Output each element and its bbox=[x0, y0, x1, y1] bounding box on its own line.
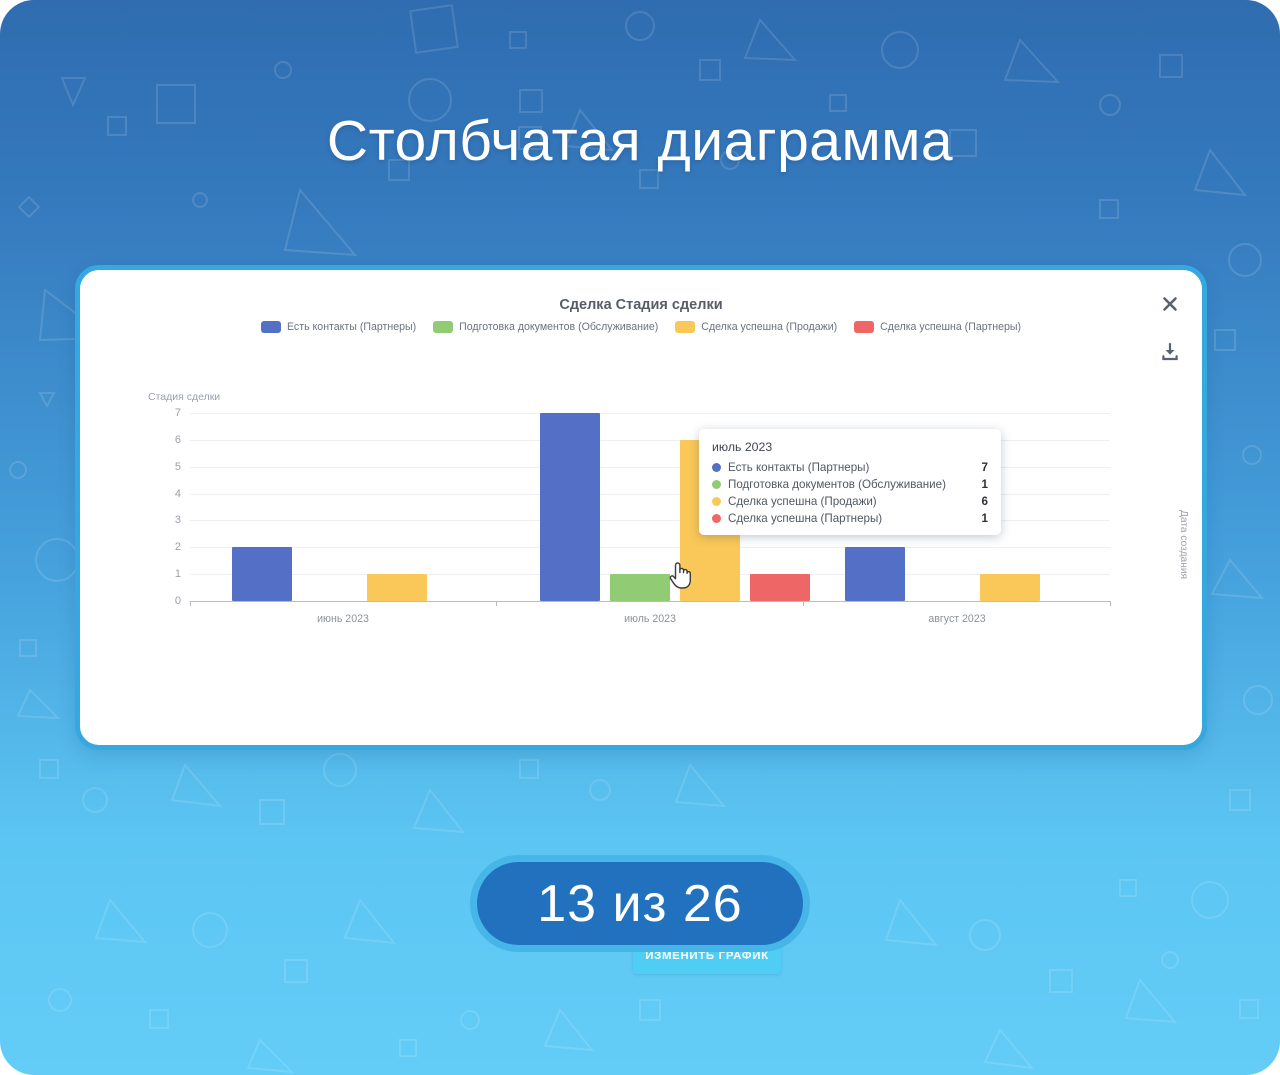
x-tick-label-august: август 2023 bbox=[928, 613, 985, 625]
bar-august-contacts[interactable] bbox=[845, 547, 905, 601]
bar-july-docs-prep[interactable] bbox=[610, 574, 670, 601]
y-tick-label: 4 bbox=[175, 488, 181, 500]
page-title: Столбчатая диаграмма bbox=[0, 108, 1280, 174]
tooltip-series-dot-icon bbox=[712, 480, 721, 489]
tooltip-series-dot-icon bbox=[712, 463, 721, 472]
legend-item[interactable]: Подготовка документов (Обслуживание) bbox=[433, 321, 658, 333]
legend-swatch-icon bbox=[261, 321, 281, 333]
x-tick-label-june: июнь 2023 bbox=[317, 613, 369, 625]
legend-label: Сделка успешна (Продажи) bbox=[701, 321, 837, 333]
legend-swatch-icon bbox=[854, 321, 874, 333]
bar-august-deal-success-sales[interactable] bbox=[980, 574, 1040, 601]
legend-swatch-icon bbox=[433, 321, 453, 333]
tooltip-row: Есть контакты (Партнеры) 7 bbox=[712, 461, 988, 474]
x-axis-line bbox=[190, 601, 1110, 602]
bar-july-contacts[interactable] bbox=[540, 413, 600, 601]
progress-counter-badge: 13 из 26 bbox=[470, 855, 810, 952]
x-axis-tick bbox=[803, 601, 804, 606]
x-tick-label-july: июль 2023 bbox=[624, 613, 676, 625]
tooltip-series-dot-icon bbox=[712, 514, 721, 523]
x-axis-title: Дата создания bbox=[1178, 510, 1189, 579]
tooltip-row: Подготовка документов (Обслуживание) 1 bbox=[712, 478, 988, 491]
legend-label: Сделка успешна (Партнеры) bbox=[880, 321, 1021, 333]
page-root: Столбчатая диаграмма Сделка Стадия сделк… bbox=[0, 0, 1280, 1075]
y-tick-label: 0 bbox=[175, 595, 181, 607]
chart-title: Сделка Стадия сделки bbox=[80, 297, 1202, 313]
tooltip-series-value: 1 bbox=[982, 478, 988, 491]
y-tick-label: 1 bbox=[175, 568, 181, 580]
legend-item[interactable]: Сделка успешна (Партнеры) bbox=[854, 321, 1021, 333]
chart-legend: Есть контакты (Партнеры) Подготовка доку… bbox=[80, 321, 1202, 333]
bar-june-deal-success-sales[interactable] bbox=[367, 574, 427, 601]
y-tick-label: 5 bbox=[175, 461, 181, 473]
legend-label: Есть контакты (Партнеры) bbox=[287, 321, 416, 333]
progress-counter-label: 13 из 26 bbox=[537, 874, 742, 934]
download-icon[interactable] bbox=[1160, 342, 1180, 362]
tooltip-series-name: Есть контакты (Партнеры) bbox=[728, 461, 974, 474]
y-axis-title: Стадия сделки bbox=[148, 391, 220, 403]
tooltip-series-dot-icon bbox=[712, 497, 721, 506]
close-icon[interactable] bbox=[1160, 294, 1180, 314]
x-axis-tick bbox=[496, 601, 497, 606]
legend-swatch-icon bbox=[675, 321, 695, 333]
y-tick-label: 3 bbox=[175, 514, 181, 526]
tooltip-title: июль 2023 bbox=[712, 440, 988, 454]
tooltip-series-name: Подготовка документов (Обслуживание) bbox=[728, 478, 974, 491]
legend-label: Подготовка документов (Обслуживание) bbox=[459, 321, 658, 333]
tooltip-series-name: Сделка успешна (Партнеры) bbox=[728, 512, 974, 525]
chart-tooltip: июль 2023 Есть контакты (Партнеры) 7 Под… bbox=[699, 429, 1001, 535]
tooltip-row: Сделка успешна (Продажи) 6 bbox=[712, 495, 988, 508]
tooltip-series-name: Сделка успешна (Продажи) bbox=[728, 495, 974, 508]
bar-july-deal-success-partners[interactable] bbox=[750, 574, 810, 601]
x-axis-tick bbox=[190, 601, 191, 606]
tooltip-series-value: 7 bbox=[982, 461, 988, 474]
y-tick-label: 7 bbox=[175, 407, 181, 419]
bar-june-contacts[interactable] bbox=[232, 547, 292, 601]
tooltip-row: Сделка успешна (Партнеры) 1 bbox=[712, 512, 988, 525]
y-tick-label: 2 bbox=[175, 541, 181, 553]
legend-item[interactable]: Есть контакты (Партнеры) bbox=[261, 321, 416, 333]
y-tick-label: 6 bbox=[175, 434, 181, 446]
chart-card: Сделка Стадия сделки Есть контакты (Парт… bbox=[75, 265, 1207, 750]
tooltip-series-value: 6 bbox=[982, 495, 988, 508]
legend-item[interactable]: Сделка успешна (Продажи) bbox=[675, 321, 837, 333]
x-axis-tick bbox=[1110, 601, 1111, 606]
tooltip-series-value: 1 bbox=[982, 512, 988, 525]
